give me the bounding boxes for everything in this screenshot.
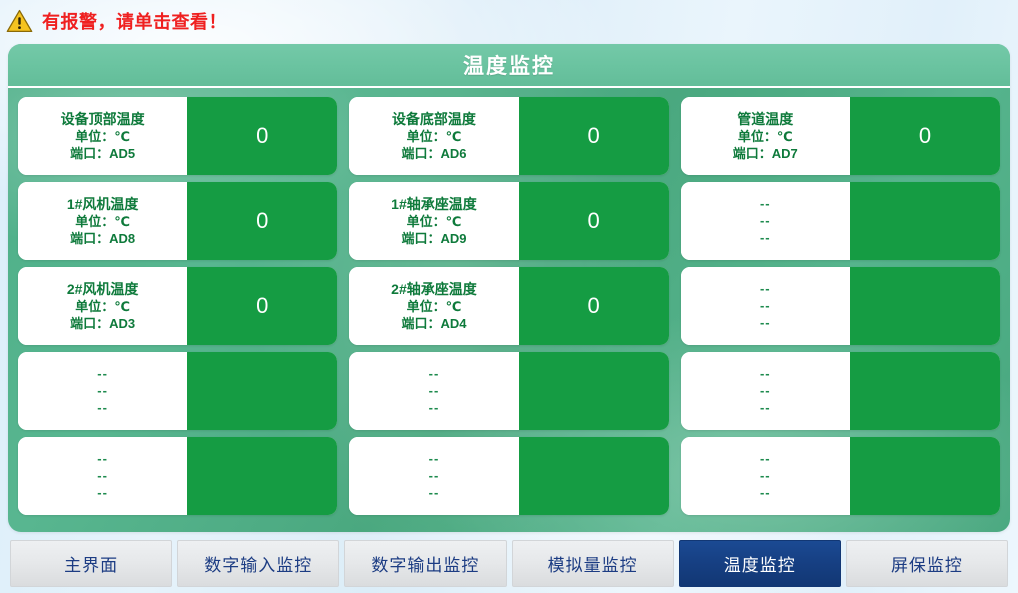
card-unit: -- (97, 468, 108, 484)
temperature-card[interactable]: ------ (349, 352, 668, 430)
card-label-area: ------ (681, 267, 850, 345)
temperature-card[interactable]: ------ (681, 182, 1000, 260)
card-title: -- (97, 366, 108, 382)
card-unit: -- (97, 383, 108, 399)
card-unit: 单位：℃ (407, 299, 462, 315)
temperature-card[interactable]: 设备底部温度单位：℃端口：AD60 (349, 97, 668, 175)
card-label-area: 2#风机温度单位：℃端口：AD3 (18, 267, 187, 345)
card-title: -- (429, 451, 440, 467)
card-value (187, 352, 337, 430)
card-port: 端口：AD7 (733, 146, 798, 162)
tab-label: 主界面 (64, 551, 118, 576)
temperature-card[interactable]: 2#轴承座温度单位：℃端口：AD40 (349, 267, 668, 345)
card-label-area: ------ (18, 352, 187, 430)
temperature-monitor-panel: 温度监控 设备顶部温度单位：℃端口：AD50设备底部温度单位：℃端口：AD60管… (8, 44, 1010, 532)
card-title: 2#轴承座温度 (391, 281, 477, 298)
card-value (850, 437, 1000, 515)
card-label-area: 设备顶部温度单位：℃端口：AD5 (18, 97, 187, 175)
card-value (187, 437, 337, 515)
card-label-area: 2#轴承座温度单位：℃端口：AD4 (349, 267, 518, 345)
card-unit: 单位：℃ (75, 129, 130, 145)
card-label-area: 管道温度单位：℃端口：AD7 (681, 97, 850, 175)
card-unit: 单位：℃ (738, 129, 793, 145)
tab-0[interactable]: 主界面 (10, 540, 172, 587)
card-value: 0 (519, 182, 669, 260)
temperature-card[interactable]: ------ (681, 352, 1000, 430)
card-port: -- (760, 400, 771, 416)
temperature-card[interactable]: ------ (349, 437, 668, 515)
temperature-card[interactable]: ------ (681, 267, 1000, 345)
tab-label: 温度监控 (724, 551, 796, 576)
warning-triangle-icon (6, 9, 33, 33)
card-port: 端口：AD8 (70, 231, 135, 247)
card-value: 0 (519, 97, 669, 175)
card-label-area: ------ (349, 437, 518, 515)
temperature-card[interactable]: ------ (18, 437, 337, 515)
card-unit: 单位：℃ (407, 129, 462, 145)
temperature-card[interactable]: ------ (681, 437, 1000, 515)
card-unit: -- (760, 468, 771, 484)
card-port: -- (97, 400, 108, 416)
card-unit: -- (760, 383, 771, 399)
tab-label: 数字输出监控 (371, 551, 479, 576)
tab-label: 数字输入监控 (204, 551, 312, 576)
tab-5[interactable]: 屏保监控 (846, 540, 1008, 587)
card-label-area: 1#轴承座温度单位：℃端口：AD9 (349, 182, 518, 260)
card-label-area: ------ (681, 352, 850, 430)
card-title: -- (760, 366, 771, 382)
card-unit: -- (760, 298, 771, 314)
card-label-area: ------ (18, 437, 187, 515)
card-port: 端口：AD6 (401, 146, 466, 162)
card-port: -- (760, 485, 771, 501)
card-port: -- (97, 485, 108, 501)
card-port: 端口：AD9 (401, 231, 466, 247)
card-label-area: ------ (349, 352, 518, 430)
tab-3[interactable]: 模拟量监控 (512, 540, 674, 587)
card-title: 设备顶部温度 (61, 111, 145, 128)
card-unit: 单位：℃ (75, 214, 130, 230)
panel-header: 温度监控 (8, 44, 1010, 88)
card-unit: -- (760, 213, 771, 229)
alarm-banner[interactable]: 有报警，请单击查看！ (0, 0, 1018, 42)
card-label-area: 设备底部温度单位：℃端口：AD6 (349, 97, 518, 175)
card-value (850, 352, 1000, 430)
card-title: -- (760, 196, 771, 212)
temperature-card[interactable]: 管道温度单位：℃端口：AD70 (681, 97, 1000, 175)
card-port: -- (429, 400, 440, 416)
card-value (519, 352, 669, 430)
tab-4[interactable]: 温度监控 (679, 540, 841, 587)
card-title: 1#轴承座温度 (391, 196, 477, 213)
card-port: -- (429, 485, 440, 501)
card-value (850, 267, 1000, 345)
card-title: 管道温度 (737, 111, 793, 128)
card-title: -- (760, 281, 771, 297)
card-label-area: ------ (681, 182, 850, 260)
temperature-card[interactable]: 2#风机温度单位：℃端口：AD30 (18, 267, 337, 345)
card-value (850, 182, 1000, 260)
card-title: 设备底部温度 (392, 111, 476, 128)
card-label-area: 1#风机温度单位：℃端口：AD8 (18, 182, 187, 260)
card-value: 0 (187, 97, 337, 175)
card-title: 2#风机温度 (67, 281, 139, 298)
card-unit: 单位：℃ (407, 214, 462, 230)
card-title: -- (760, 451, 771, 467)
tab-1[interactable]: 数字输入监控 (177, 540, 339, 587)
card-unit: -- (429, 468, 440, 484)
card-title: 1#风机温度 (67, 196, 139, 213)
card-port: 端口：AD5 (70, 146, 135, 162)
card-value: 0 (187, 182, 337, 260)
card-unit: 单位：℃ (75, 299, 130, 315)
temperature-card[interactable]: 设备顶部温度单位：℃端口：AD50 (18, 97, 337, 175)
card-port: -- (760, 315, 771, 331)
tab-label: 屏保监控 (891, 551, 963, 576)
temperature-card-grid: 设备顶部温度单位：℃端口：AD50设备底部温度单位：℃端口：AD60管道温度单位… (8, 88, 1010, 525)
card-port: -- (760, 230, 771, 246)
card-value: 0 (187, 267, 337, 345)
tab-2[interactable]: 数字输出监控 (344, 540, 506, 587)
temperature-card[interactable]: ------ (18, 352, 337, 430)
temperature-card[interactable]: 1#风机温度单位：℃端口：AD80 (18, 182, 337, 260)
card-title: -- (429, 366, 440, 382)
card-unit: -- (429, 383, 440, 399)
card-label-area: ------ (681, 437, 850, 515)
bottom-tabbar: 主界面数字输入监控数字输出监控模拟量监控温度监控屏保监控 (10, 540, 1008, 587)
page-title: 温度监控 (463, 50, 555, 80)
temperature-card[interactable]: 1#轴承座温度单位：℃端口：AD90 (349, 182, 668, 260)
card-value (519, 437, 669, 515)
card-port: 端口：AD4 (401, 316, 466, 332)
alarm-message: 有报警，请单击查看！ (42, 8, 227, 34)
card-title: -- (97, 451, 108, 467)
card-value: 0 (519, 267, 669, 345)
tab-label: 模拟量监控 (548, 551, 638, 576)
card-port: 端口：AD3 (70, 316, 135, 332)
card-value: 0 (850, 97, 1000, 175)
